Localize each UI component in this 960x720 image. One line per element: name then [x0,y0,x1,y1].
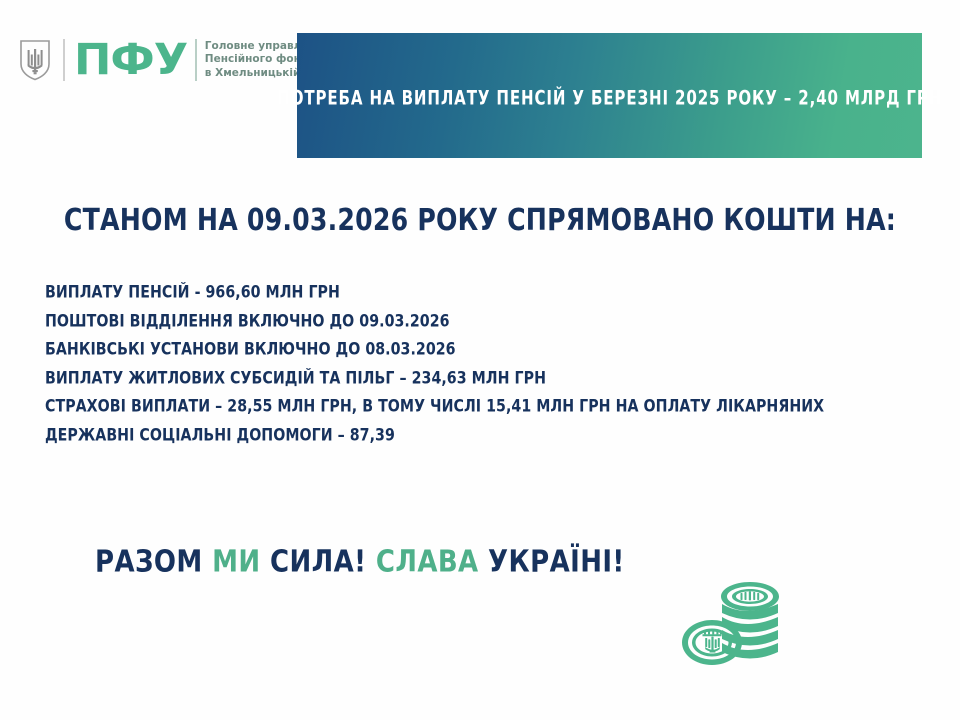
banner-title: ПОТРЕБА НА ВИПЛАТУ ПЕНСІЙ У БЕРЕЗНІ 2025… [263,86,955,109]
slide-canvas: ПФУ Головне управління Пенсійного фонду … [0,0,960,720]
slogan: РАЗОМ МИ СИЛА! СЛАВА УКРАЇНІ! [95,545,625,580]
logo-divider-secondary [195,39,197,81]
coin-stack-icon [678,576,794,676]
slogan-word-syla: СИЛА! [270,545,376,580]
ukraine-coat-of-arms-icon [18,38,52,82]
slogan-word-my: МИ [212,545,270,580]
page-title: СТАНОМ НА 09.03.2026 РОКУ СПРЯМОВАНО КОШ… [14,203,945,238]
pfu-abbreviation: ПФУ [74,38,187,82]
header-banner: ПОТРЕБА НА ВИПЛАТУ ПЕНСІЙ У БЕРЕЗНІ 2025… [297,33,922,158]
allocation-list: ВИПЛАТУ ПЕНСІЙ - 966,60 МЛН ГРН ПОШТОВІ … [45,279,925,451]
logo-divider [63,39,65,81]
slogan-word-slava: СЛАВА [376,545,488,580]
list-item: ДЕРЖАВНІ СОЦІАЛЬНІ ДОПОМОГИ – 87,39 [45,419,925,453]
slogan-word-razom: РАЗОМ [95,545,212,580]
slogan-word-ukraini: УКРАЇНІ! [488,545,625,580]
